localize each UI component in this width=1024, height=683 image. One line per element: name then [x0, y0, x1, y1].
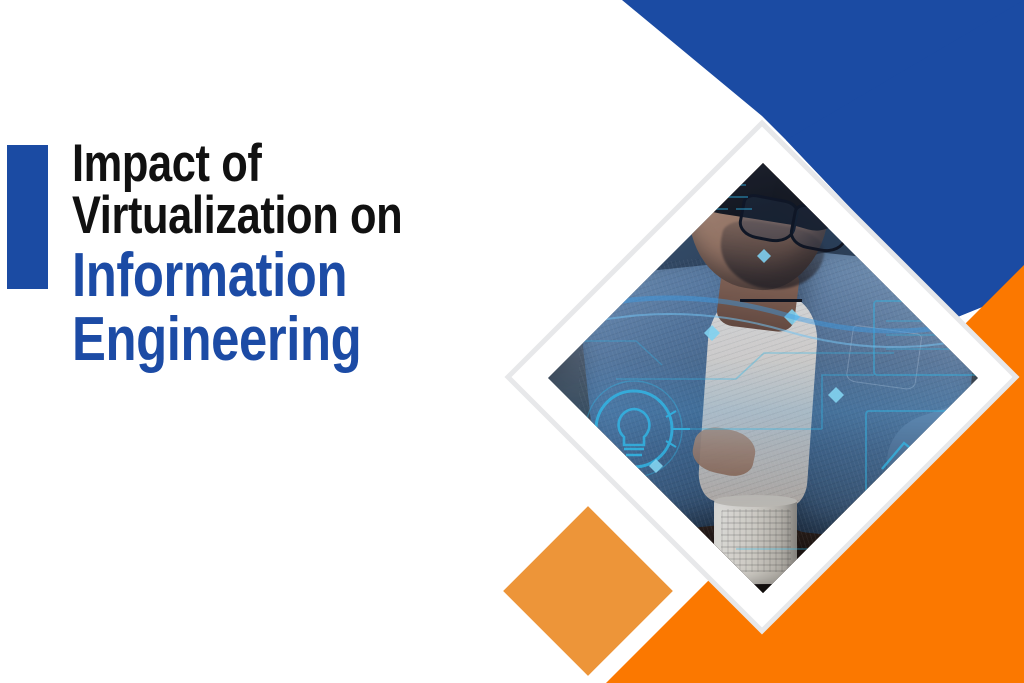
person-shirt-pocket — [846, 324, 923, 390]
mug-rim — [714, 495, 797, 507]
eyeglass-bridge — [740, 299, 802, 302]
banner-canvas: Impact of Virtualization on Information … — [0, 0, 1024, 683]
title-line-2: Virtualization on — [72, 191, 416, 241]
title-line-3: Information — [72, 247, 416, 306]
title-line-1: Impact of — [72, 139, 416, 189]
title-line-4: Engineering — [72, 311, 416, 370]
left-accent-bar — [7, 145, 48, 289]
page-title: Impact of Virtualization on Information … — [72, 139, 492, 369]
